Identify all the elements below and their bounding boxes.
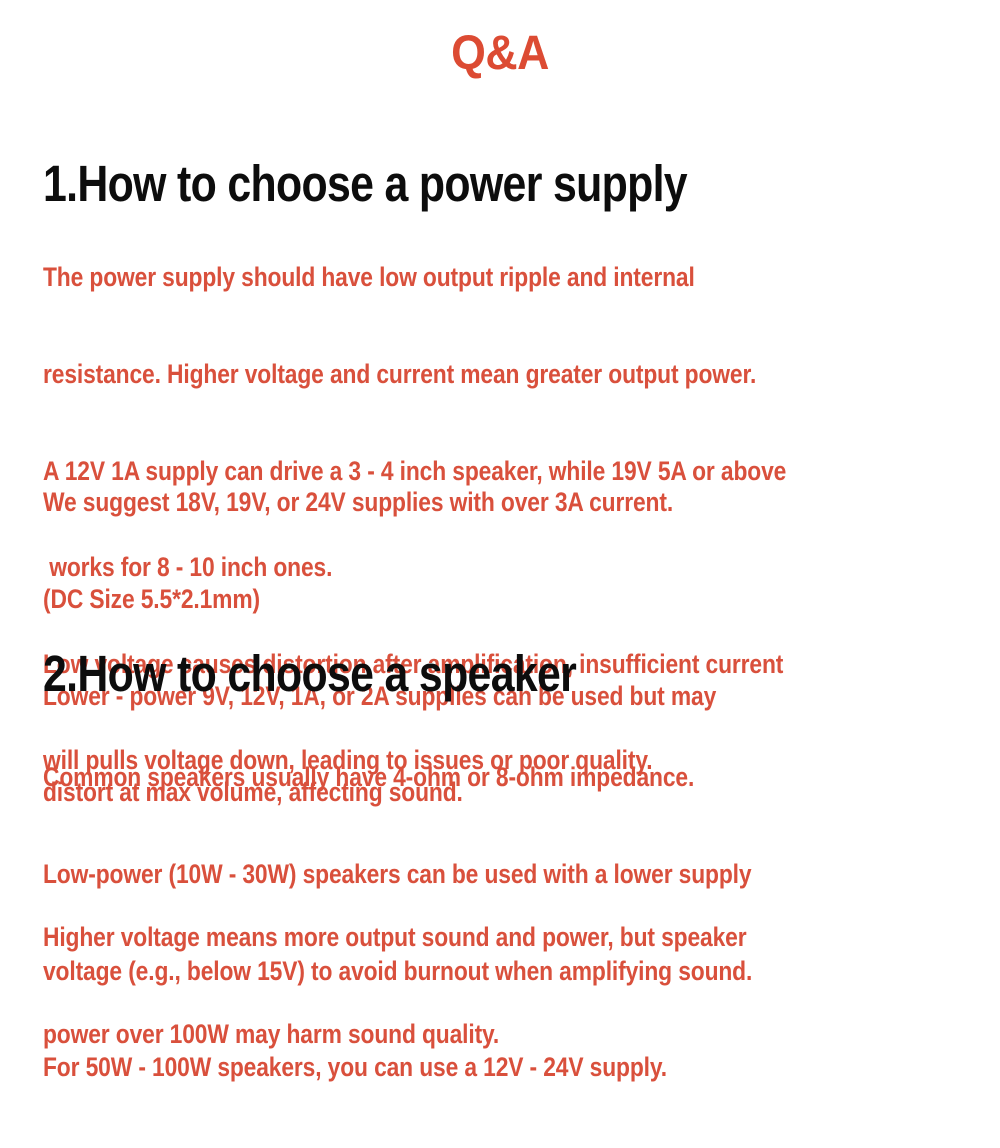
body-line: (DC Size 5.5*2.1mm) xyxy=(43,583,981,615)
section-heading-speaker: 2.How to choose a speaker xyxy=(43,646,576,702)
body-line: power over 100W may harm sound quality. xyxy=(43,1018,981,1050)
body-line: We suggest 18V, 19V, or 24V supplies wit… xyxy=(43,486,981,518)
body-line: Common speakers usually have 4-ohm or 8-… xyxy=(43,761,981,793)
body-line: Higher voltage means more output sound a… xyxy=(43,921,981,953)
page-title: Q&A xyxy=(35,26,965,82)
body-line: The power supply should have low output … xyxy=(43,261,981,293)
body-line: resistance. Higher voltage and current m… xyxy=(43,358,981,390)
paragraph-speaker-power-note: Higher voltage means more output sound a… xyxy=(43,857,981,1115)
qa-page: Q&A 1.How to choose a power supply The p… xyxy=(0,0,1000,1000)
